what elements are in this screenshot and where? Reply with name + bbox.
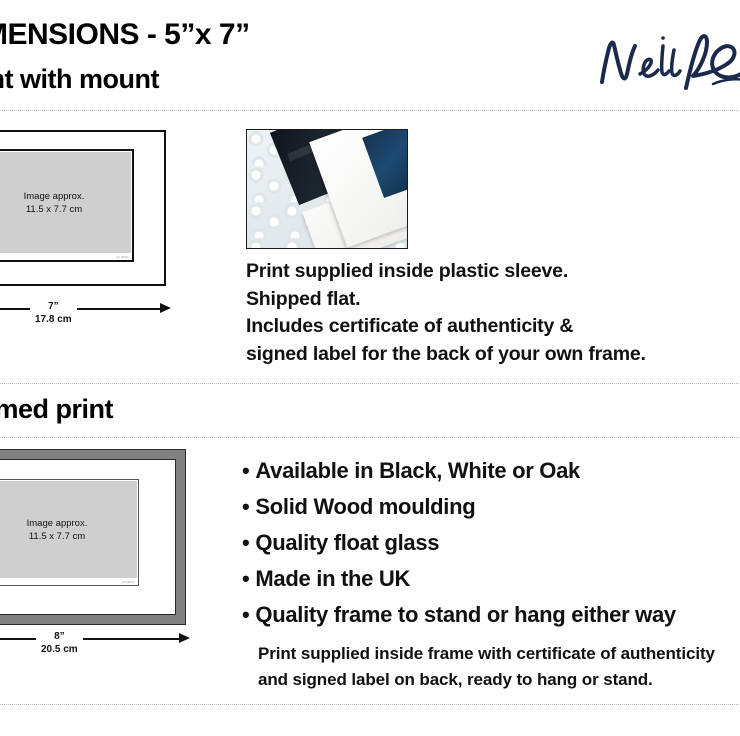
frame-feature-list: •Available in Black, White or Oak •Solid… bbox=[242, 453, 740, 633]
frame-dimension-cm: 20.5 cm bbox=[41, 643, 78, 657]
bullet-marker-icon: • bbox=[242, 494, 249, 519]
mount-dimension-inch: 7” bbox=[35, 300, 72, 313]
list-item-label: Quality float glass bbox=[255, 530, 439, 555]
signature-icon bbox=[594, 28, 740, 98]
frame-note-line: and signed label on back, ready to hang … bbox=[258, 667, 740, 693]
divider-section-bottom bbox=[0, 437, 740, 438]
list-item-label: Quality frame to stand or hang either wa… bbox=[255, 602, 675, 627]
frame-section-title: Framed print bbox=[0, 394, 113, 425]
mount-aperture: Image approx. 11.5 x 7.7 cm Neil Barnes … bbox=[0, 149, 134, 262]
list-item: •Made in the UK bbox=[242, 561, 740, 597]
list-item-label: Made in the UK bbox=[255, 566, 410, 591]
frame-dimension-inch: 8” bbox=[41, 630, 78, 643]
frame-image-area: Image approx. 11.5 x 7.7 cm bbox=[0, 481, 137, 578]
packaging-photo bbox=[246, 129, 408, 249]
divider-section-top bbox=[0, 383, 740, 384]
frame-image-label: Image approx. 11.5 x 7.7 cm bbox=[27, 517, 88, 543]
frame-mount: Image approx. 11.5 x 7.7 cm Neil Barnes … bbox=[0, 459, 176, 615]
divider-footer bbox=[0, 704, 740, 705]
mount-image-label: Image approx. 11.5 x 7.7 cm bbox=[24, 190, 85, 216]
arrow-head-icon bbox=[179, 633, 190, 643]
bullet-marker-icon: • bbox=[242, 566, 249, 591]
page-title: DIMENSIONS - 5”x 7” bbox=[0, 18, 250, 52]
frame-credit-right: Ltd. Edition bbox=[122, 581, 135, 584]
frame-image-label-line1: Image approx. bbox=[27, 518, 88, 529]
mount-copy-line: signed label for the back of your own fr… bbox=[246, 341, 740, 369]
frame-image-label-line2: 11.5 x 7.7 cm bbox=[29, 531, 85, 542]
mount-copy-line: Print supplied inside plastic sleeve. bbox=[246, 258, 740, 286]
mount-credit-right: Ltd. Edition bbox=[116, 256, 129, 259]
bullet-marker-icon: • bbox=[242, 530, 249, 555]
bullet-marker-icon: • bbox=[242, 602, 249, 627]
list-item: •Solid Wood moulding bbox=[242, 489, 740, 525]
bullet-marker-icon: • bbox=[242, 458, 249, 483]
frame-aperture: Image approx. 11.5 x 7.7 cm Neil Barnes … bbox=[0, 479, 139, 586]
page-subtitle: Print with mount bbox=[0, 64, 159, 95]
mount-image-area: Image approx. 11.5 x 7.7 cm bbox=[0, 152, 131, 253]
mount-copy-line: Includes certificate of authenticity & bbox=[246, 313, 740, 341]
frame-image-credit: Neil Barnes Ltd. Edition bbox=[0, 581, 135, 584]
divider-header bbox=[0, 110, 740, 111]
mount-copy-line: Shipped flat. bbox=[246, 286, 740, 314]
frame-note-line: Print supplied inside frame with certifi… bbox=[258, 641, 740, 667]
mount-dimension-cm: 17.8 cm bbox=[35, 313, 72, 327]
frame-note-block: Print supplied inside frame with certifi… bbox=[258, 641, 740, 693]
arrow-head-icon bbox=[160, 303, 171, 313]
mount-dimension-label: 7” 17.8 cm bbox=[30, 300, 77, 327]
brand-logo: NB bbox=[594, 28, 740, 98]
list-item: •Available in Black, White or Oak bbox=[242, 453, 740, 489]
mount-image-credit: Neil Barnes Ltd. Edition bbox=[0, 256, 129, 259]
list-item: •Quality frame to stand or hang either w… bbox=[242, 597, 740, 633]
mount-image-label-line1: Image approx. bbox=[24, 191, 85, 202]
dimension-line bbox=[0, 638, 184, 640]
mount-image-label-line2: 11.5 x 7.7 cm bbox=[26, 204, 82, 215]
frame-diagram: Image approx. 11.5 x 7.7 cm Neil Barnes … bbox=[0, 449, 186, 625]
frame-dimension-label: 8” 20.5 cm bbox=[36, 630, 83, 657]
dimension-line bbox=[0, 308, 165, 310]
mount-width-dimension: 7” 17.8 cm bbox=[0, 300, 176, 334]
dimensions-spec-page: DIMENSIONS - 5”x 7” Print with mount NB … bbox=[0, 0, 740, 736]
list-item-label: Available in Black, White or Oak bbox=[255, 458, 580, 483]
mount-diagram: Image approx. 11.5 x 7.7 cm Neil Barnes … bbox=[0, 130, 166, 286]
mount-copy-block: Print supplied inside plastic sleeve. Sh… bbox=[246, 258, 740, 368]
list-item-label: Solid Wood moulding bbox=[255, 494, 475, 519]
list-item: •Quality float glass bbox=[242, 525, 740, 561]
frame-width-dimension: 8” 20.5 cm bbox=[0, 630, 196, 664]
